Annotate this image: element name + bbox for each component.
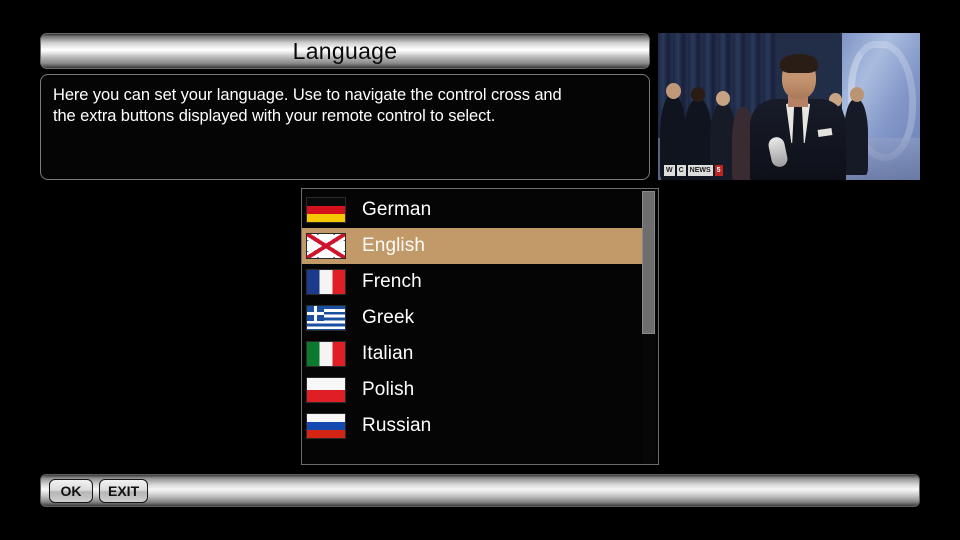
- language-item-polish[interactable]: Polish: [302, 372, 642, 408]
- logo-part: C: [677, 165, 686, 176]
- ok-button[interactable]: OK: [49, 479, 93, 503]
- crowd-figure: [844, 99, 868, 175]
- page-title-bar: Language: [40, 33, 650, 69]
- flag-italy-icon: [306, 341, 346, 367]
- language-list-panel[interactable]: German English French Greek Italian Poli: [301, 188, 659, 465]
- logo-part: 5: [715, 165, 723, 176]
- language-item-english[interactable]: English: [302, 228, 642, 264]
- flag-germany-icon: [306, 197, 346, 223]
- logo-part: NEWS: [688, 165, 713, 176]
- flag-united-kingdom-icon: [306, 233, 346, 259]
- flag-greece-icon: [306, 305, 346, 331]
- flag-france-icon: [306, 269, 346, 295]
- language-label: Polish: [362, 379, 414, 401]
- language-item-russian[interactable]: Russian: [302, 408, 642, 444]
- language-label: German: [362, 199, 431, 221]
- page-title: Language: [293, 38, 398, 65]
- language-label: Greek: [362, 307, 414, 329]
- flag-poland-icon: [306, 377, 346, 403]
- bottom-action-bar: OK EXIT: [40, 474, 920, 507]
- language-item-greek[interactable]: Greek: [302, 300, 642, 336]
- description-panel: Here you can set your language. Use to n…: [40, 74, 650, 180]
- exit-button-label: EXIT: [108, 483, 139, 499]
- language-item-german[interactable]: German: [302, 192, 642, 228]
- scrollbar-thumb[interactable]: [642, 191, 655, 334]
- language-item-french[interactable]: French: [302, 264, 642, 300]
- crowd-figure: [691, 87, 705, 102]
- reporter-hair: [780, 54, 818, 73]
- list-scrollbar[interactable]: [642, 191, 655, 463]
- language-label: French: [362, 271, 422, 293]
- crowd-figure: [666, 83, 681, 99]
- language-label: English: [362, 235, 425, 257]
- tv-settings-screen: Language Here you can set your language.…: [0, 0, 960, 540]
- language-item-italian[interactable]: Italian: [302, 336, 642, 372]
- video-preview[interactable]: W C NEWS 5: [658, 33, 920, 180]
- crowd-figure: [716, 91, 730, 106]
- broadcaster-logo: W C NEWS 5: [664, 165, 723, 176]
- description-text: Here you can set your language. Use to n…: [53, 85, 637, 127]
- flag-russia-icon: [306, 413, 346, 439]
- exit-button[interactable]: EXIT: [99, 479, 148, 503]
- ok-button-label: OK: [61, 483, 82, 499]
- language-label: Italian: [362, 343, 413, 365]
- logo-part: W: [664, 165, 675, 176]
- language-list[interactable]: German English French Greek Italian Poli: [302, 192, 642, 444]
- language-label: Russian: [362, 415, 431, 437]
- crowd-figure: [850, 87, 864, 102]
